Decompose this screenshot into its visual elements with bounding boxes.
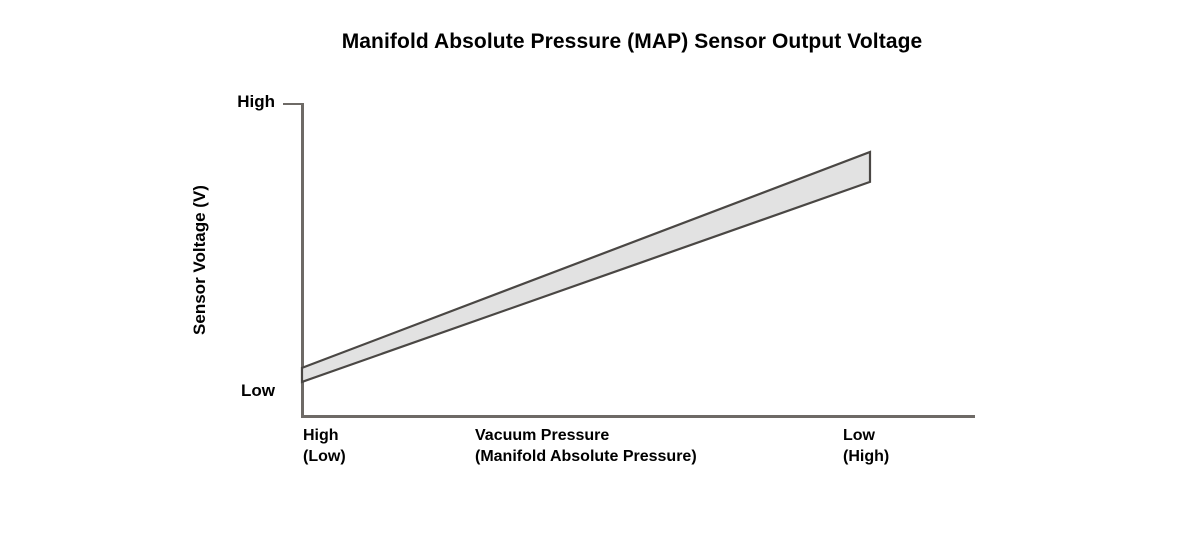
sensor-tolerance-band — [302, 152, 870, 382]
x-axis-label-center-line1: Vacuum Pressure — [475, 427, 609, 444]
x-axis-label-left: High (Low) — [303, 425, 346, 467]
y-axis-tick-high — [283, 103, 302, 105]
chart-title-text: Manifold Absolute Pressure (MAP) Sensor … — [342, 30, 923, 53]
x-axis-label-left-line1: High — [303, 427, 339, 444]
x-axis-label-left-line2: (Low) — [303, 446, 346, 467]
x-axis-label-center-line2: (Manifold Absolute Pressure) — [475, 446, 697, 467]
x-axis-label-right: Low (High) — [843, 425, 889, 467]
y-axis-title: Sensor Voltage (V) — [190, 50, 210, 470]
x-axis-label-right-line1: Low — [843, 427, 875, 444]
x-axis-line — [301, 415, 975, 418]
y-axis-line — [301, 103, 304, 418]
chart-figure: Manifold Absolute Pressure (MAP) Sensor … — [0, 0, 1200, 549]
x-axis-label-center: Vacuum Pressure (Manifold Absolute Press… — [475, 425, 697, 467]
chart-title: Manifold Absolute Pressure (MAP) Sensor … — [0, 30, 1200, 54]
x-axis-label-right-line2: (High) — [843, 446, 889, 467]
